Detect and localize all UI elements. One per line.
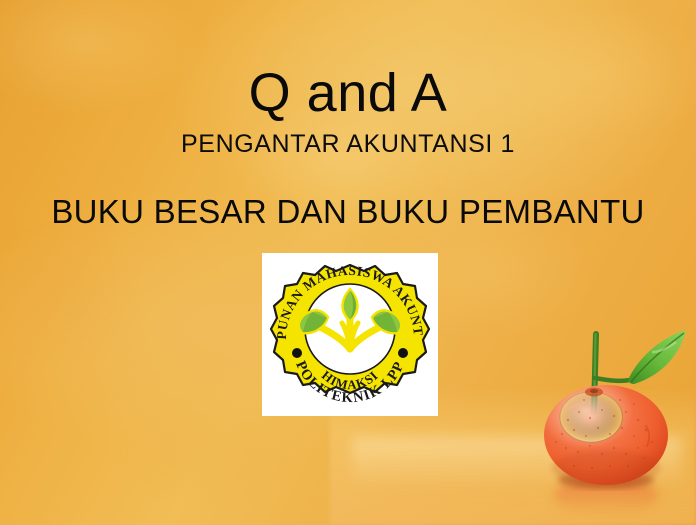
- slide-heading: BUKU BESAR DAN BUKU PEMBANTU: [0, 193, 696, 231]
- fruit-leaf: [628, 330, 686, 384]
- tangerine-image: [534, 300, 696, 525]
- slide-subtitle: PENGANTAR AKUNTANSI 1: [0, 130, 696, 159]
- presentation-slide: Q and A PENGANTAR AKUNTANSI 1 BUKU BESAR…: [0, 0, 696, 525]
- logo-left-dot: [292, 348, 302, 358]
- logo-right-dot: [398, 348, 408, 358]
- slide-title: Q and A: [0, 64, 696, 122]
- fruit-body: [544, 385, 668, 486]
- slide-text-block: Q and A PENGANTAR AKUNTANSI 1 BUKU BESAR…: [0, 0, 696, 231]
- himaksi-logo: HIMPUNAN MAHASISWA AKUNTANSI POLITEKNIK …: [262, 253, 438, 416]
